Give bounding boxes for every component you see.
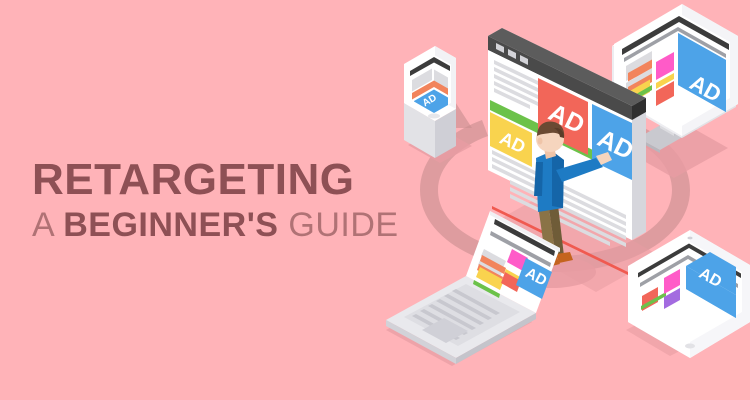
device-smartphone-top-left[interactable]: AD — [404, 46, 472, 163]
illustration-scene: AD — [360, 0, 750, 400]
poster-canvas: RETARGETING A BEGINNER'S GUIDE — [0, 0, 750, 400]
subtitle-article: A — [32, 206, 63, 244]
subtitle-emphasis: BEGINNER'S — [63, 206, 278, 244]
device-laptop-bottom-left[interactable]: AD — [386, 211, 560, 366]
